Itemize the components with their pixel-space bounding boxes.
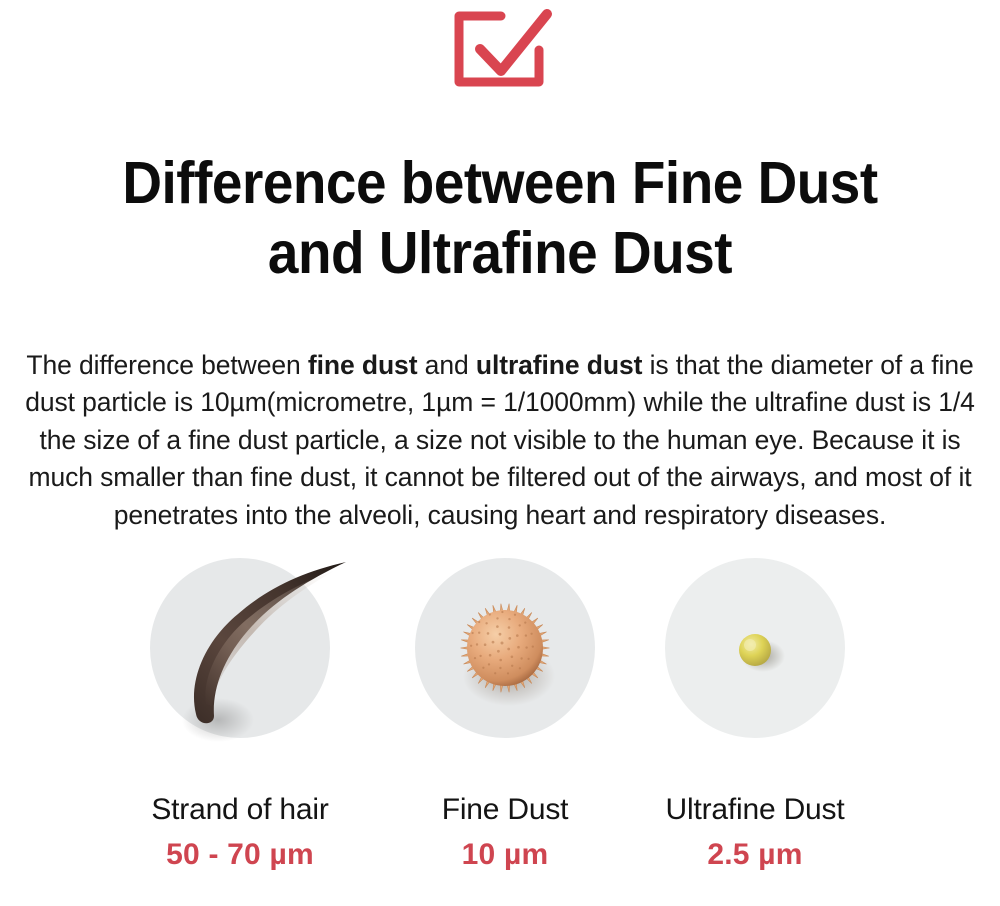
figure-measure-ultrafine-dust: 2.5 µm [615, 838, 895, 872]
body-paragraph: The difference between fine dust and ult… [8, 347, 992, 535]
figure-measure-hair: 50 - 70 µm [100, 838, 380, 872]
title-line-2: and Ultrafine Dust [35, 218, 965, 288]
hair-strand-image [100, 558, 380, 758]
checkbox-checked-icon [443, 4, 557, 96]
figure-caption-hair: Strand of hair [100, 793, 380, 827]
title-line-1: Difference between Fine Dust [35, 148, 965, 218]
figure-caption-fine-dust: Fine Dust [365, 793, 645, 827]
figure-ultrafine-dust: Ultrafine Dust 2.5 µm [615, 548, 895, 888]
comparison-figures: Strand of hair 50 - 70 µm [0, 548, 1000, 888]
body-segment-1: The difference between [26, 350, 308, 380]
body-bold-fine-dust: fine dust [308, 350, 418, 380]
figure-measure-fine-dust: 10 µm [365, 838, 645, 872]
infographic-page: Difference between Fine Dust and Ultrafi… [0, 0, 1000, 906]
body-bold-ultrafine-dust: ultrafine dust [476, 350, 642, 380]
body-segment-2: and [417, 350, 475, 380]
ultrafine-dust-particle-image [615, 558, 895, 758]
fine-dust-particle-image [365, 558, 645, 758]
page-title: Difference between Fine Dust and Ultrafi… [35, 148, 965, 288]
figure-caption-ultrafine-dust: Ultrafine Dust [615, 793, 895, 827]
figure-strand-of-hair: Strand of hair 50 - 70 µm [100, 548, 380, 888]
figure-fine-dust: Fine Dust 10 µm [365, 548, 645, 888]
